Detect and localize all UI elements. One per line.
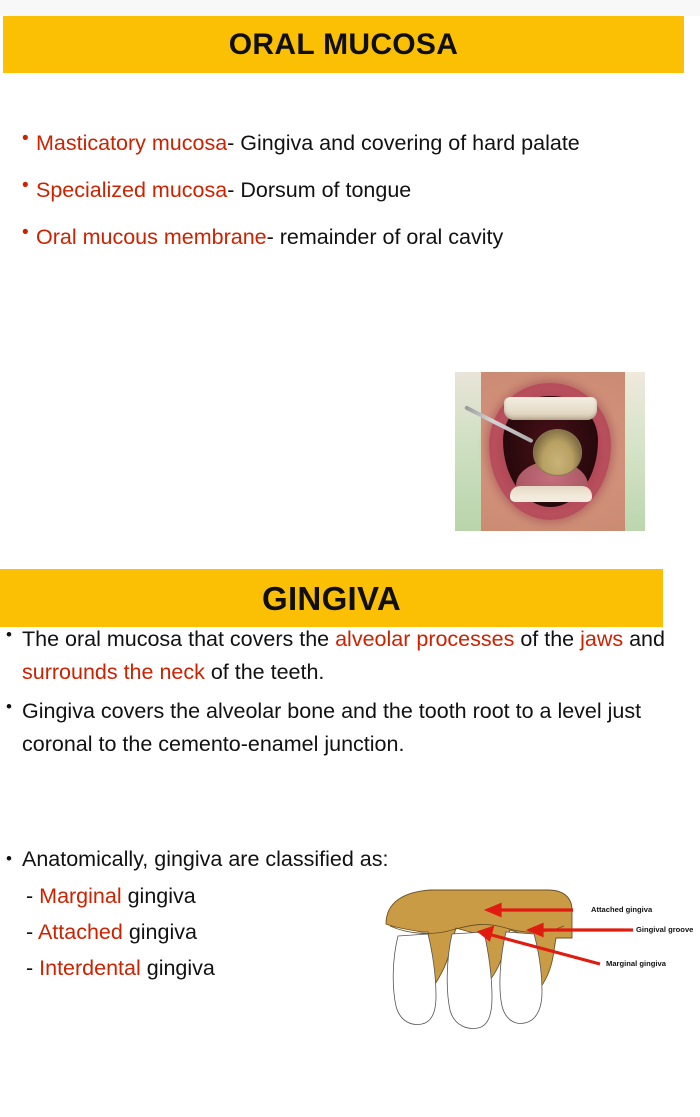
slide-title-bar-gingiva: GINGIVA xyxy=(0,569,663,627)
sub-item-keyword: Attached xyxy=(38,920,123,944)
bullet-text: The oral mucosa that covers the alveolar… xyxy=(22,623,678,689)
list-item-interdental-gingiva: - Interdental gingiva xyxy=(2,950,422,986)
bullet-dot-icon: • xyxy=(2,695,22,719)
list-item: • The oral mucosa that covers the alveol… xyxy=(2,623,678,689)
list-item: • Gingiva covers the alveolar bone and t… xyxy=(2,695,678,761)
sub-item-rest: gingiva xyxy=(141,956,215,980)
bullet-keyword: Masticatory mucosa xyxy=(36,131,227,155)
diagram-label-gingival-groove: Gingival groove xyxy=(636,925,693,934)
text-run-highlight: jaws xyxy=(580,627,623,651)
slide-gingiva: GINGIVA • The oral mucosa that covers th… xyxy=(0,546,700,1096)
text-run: The oral mucosa that covers the xyxy=(22,627,335,651)
text-run: and xyxy=(623,627,665,651)
text-run-highlight: surrounds the neck xyxy=(22,660,205,684)
list-item-marginal-gingiva: - Marginal gingiva xyxy=(2,878,422,914)
bullet-dot-icon: • xyxy=(14,222,36,244)
bullet-text: Masticatory mucosa- Gingiva and covering… xyxy=(36,128,654,159)
open-mouth-dental-mirror-photo xyxy=(455,372,645,531)
gingiva-classification-list: • Anatomically, gingiva are classified a… xyxy=(2,844,422,986)
bullet-text: Specialized mucosa- Dorsum of tongue xyxy=(36,175,654,206)
photo-background-left xyxy=(455,372,481,531)
sub-item-rest: gingiva xyxy=(122,884,196,908)
diagram-label-attached-gingiva: Attached gingiva xyxy=(591,905,652,914)
bullet-list-oral-mucosa: • Masticatory mucosa- Gingiva and coveri… xyxy=(14,128,654,269)
bullet-dot-icon: • xyxy=(2,623,22,647)
bullet-text: Oral mucous membrane- remainder of oral … xyxy=(36,222,654,253)
diagram-label-marginal-gingiva: Marginal gingiva xyxy=(606,959,666,968)
dash-marker: - xyxy=(26,956,33,980)
list-item: • Oral mucous membrane- remainder of ora… xyxy=(14,222,654,253)
text-run-highlight: alveolar processes xyxy=(335,627,514,651)
slide-title-bar-oral-mucosa: ORAL MUCOSA xyxy=(3,16,684,73)
bullet-rest: - remainder of oral cavity xyxy=(267,225,504,249)
gingiva-anatomy-diagram: Attached gingiva Gingival groove Margina… xyxy=(378,876,700,1046)
bullet-rest: - Gingiva and covering of hard palate xyxy=(227,131,580,155)
page-title: ORAL MUCOSA xyxy=(229,30,458,60)
dash-marker: - xyxy=(26,920,33,944)
sub-item-keyword: Interdental xyxy=(39,956,141,980)
bullet-dot-icon: • xyxy=(14,175,36,197)
text-run: of the xyxy=(514,627,580,651)
bullet-rest: - Dorsum of tongue xyxy=(227,178,411,202)
list-item: • Masticatory mucosa- Gingiva and coveri… xyxy=(14,128,654,159)
bullet-keyword: Specialized mucosa xyxy=(36,178,227,202)
photo-lower-teeth xyxy=(510,486,592,502)
dash-marker: - xyxy=(26,884,33,908)
photo-background-right xyxy=(625,372,645,531)
bullet-dot-icon: • xyxy=(14,128,36,150)
bullet-keyword: Oral mucous membrane xyxy=(36,225,267,249)
photo-dental-mirror-head xyxy=(533,429,583,476)
page-title: GINGIVA xyxy=(262,582,401,615)
bullet-list-gingiva: • The oral mucosa that covers the alveol… xyxy=(2,623,678,767)
list-item-attached-gingiva: - Attached gingiva xyxy=(2,914,422,950)
slide-oral-mucosa: ORAL MUCOSA • Masticatory mucosa- Gingiv… xyxy=(0,0,700,546)
bullet-text: Gingiva covers the alveolar bone and the… xyxy=(22,695,678,761)
photo-upper-teeth xyxy=(504,397,597,419)
sub-item-rest: gingiva xyxy=(123,920,197,944)
top-margin-strip xyxy=(0,0,700,16)
list-item: • Anatomically, gingiva are classified a… xyxy=(2,844,422,874)
classification-lead-text: Anatomically, gingiva are classified as: xyxy=(22,844,422,874)
text-run: of the teeth. xyxy=(205,660,325,684)
sub-item-keyword: Marginal xyxy=(39,884,121,908)
list-item: • Specialized mucosa- Dorsum of tongue xyxy=(14,175,654,206)
bullet-dot-icon: • xyxy=(2,844,22,874)
